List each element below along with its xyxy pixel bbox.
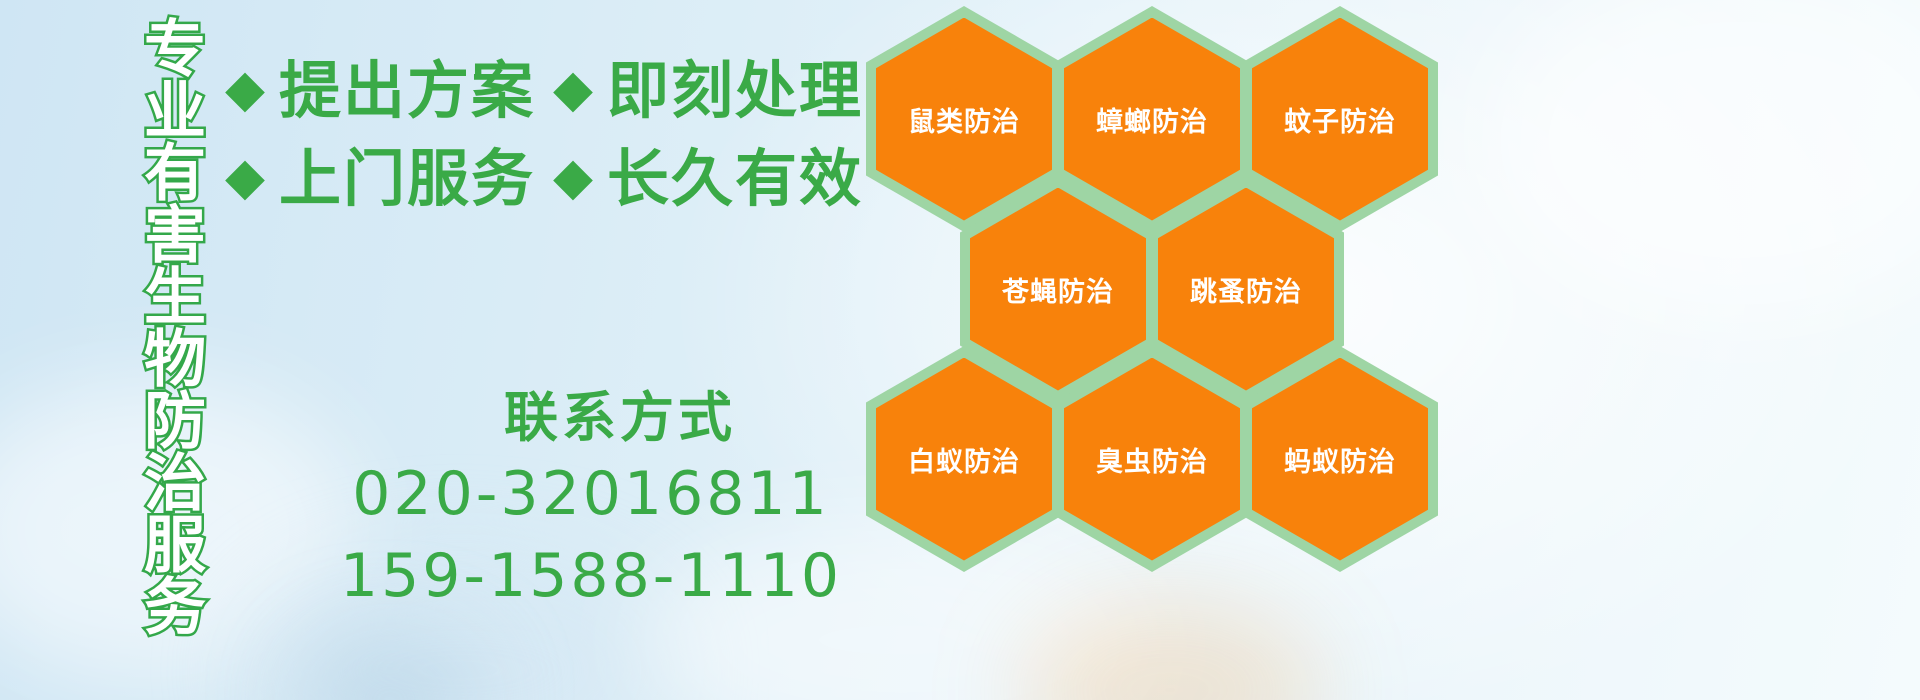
hex-label: 蚂蚁防治 bbox=[1284, 440, 1396, 479]
hex-inner: 蟑螂防治 bbox=[1064, 18, 1240, 221]
feature-label: 即刻处理 bbox=[607, 60, 863, 122]
background-blob bbox=[1480, 0, 1920, 320]
diamond-icon: ◆ bbox=[553, 151, 593, 203]
hex-inner: 跳蚤防治 bbox=[1158, 188, 1334, 391]
vertical-headline: 专业有害生物防治服务 bbox=[104, 16, 200, 636]
hex-label: 白蚁防治 bbox=[908, 440, 1020, 479]
hex-inner: 白蚁防治 bbox=[876, 358, 1052, 561]
feature-label: 长久有效 bbox=[607, 148, 863, 210]
feature-label: 上门服务 bbox=[279, 148, 535, 210]
hex-inner: 蚊子防治 bbox=[1252, 18, 1428, 221]
contact-heading: 联系方式 bbox=[355, 390, 885, 447]
background-blob bbox=[300, 640, 480, 700]
feature-row: ◆ 提出方案 ◆ 即刻处理 bbox=[225, 60, 865, 122]
promo-banner: 专业有害生物防治服务 ◆ 提出方案 ◆ 即刻处理 ◆ 上门服务 ◆ 长久有效 联… bbox=[0, 0, 1920, 700]
phone-number-secondary[interactable]: 159-1588-1110 bbox=[297, 541, 885, 612]
diamond-icon: ◆ bbox=[225, 63, 265, 115]
hex-label: 臭虫防治 bbox=[1096, 440, 1208, 479]
feature-list: ◆ 提出方案 ◆ 即刻处理 ◆ 上门服务 ◆ 长久有效 bbox=[225, 60, 865, 236]
hex-inner: 鼠类防治 bbox=[876, 18, 1052, 221]
background-blob bbox=[1020, 600, 1320, 700]
hex-inner: 苍蝇防治 bbox=[970, 188, 1146, 391]
hex-inner: 臭虫防治 bbox=[1064, 358, 1240, 561]
diamond-icon: ◆ bbox=[225, 151, 265, 203]
phone-number-primary[interactable]: 020-32016811 bbox=[297, 459, 885, 530]
service-honeycomb: 鼠类防治 蟑螂防治 蚊子防治 苍蝇防治 跳蚤防治 白蚁防治 bbox=[852, 0, 1452, 580]
diamond-icon: ◆ bbox=[553, 63, 593, 115]
hex-label: 鼠类防治 bbox=[908, 100, 1020, 139]
hex-label: 跳蚤防治 bbox=[1190, 270, 1302, 309]
feature-row: ◆ 上门服务 ◆ 长久有效 bbox=[225, 148, 865, 210]
hex-label: 苍蝇防治 bbox=[1002, 270, 1114, 309]
hex-inner: 蚂蚁防治 bbox=[1252, 358, 1428, 561]
hex-label: 蚊子防治 bbox=[1284, 100, 1396, 139]
contact-block: 联系方式 020-32016811 159-1588-1110 bbox=[225, 390, 885, 612]
feature-label: 提出方案 bbox=[279, 60, 535, 122]
hex-label: 蟑螂防治 bbox=[1096, 100, 1208, 139]
